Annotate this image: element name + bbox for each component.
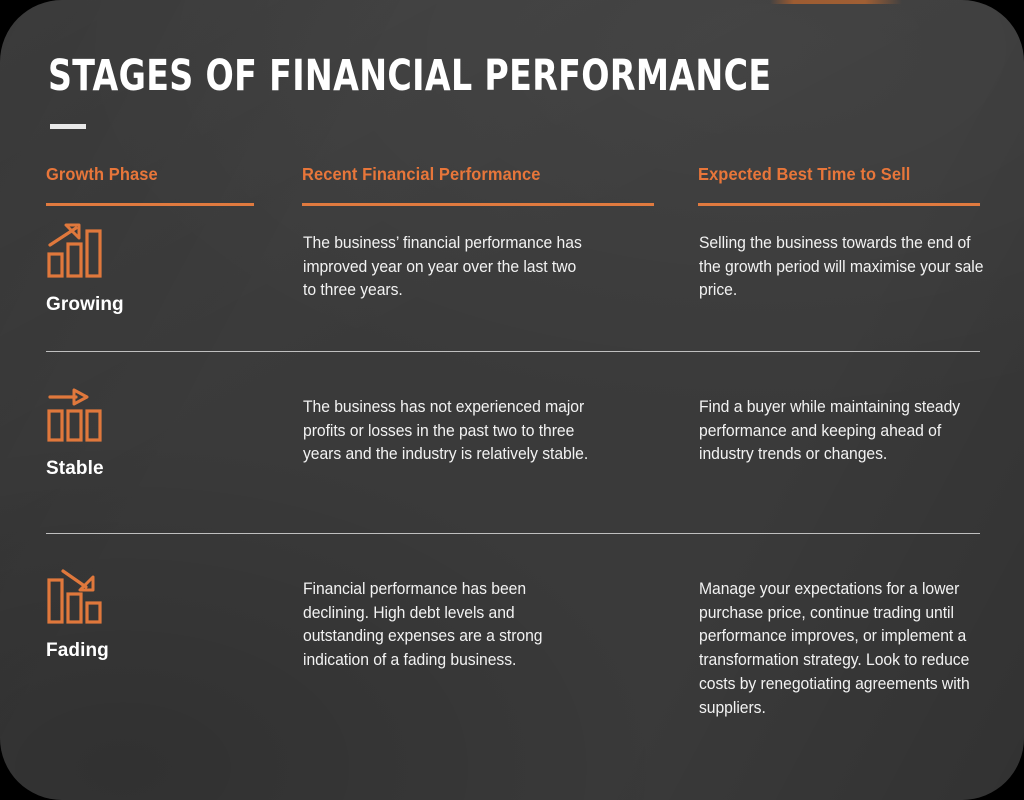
phase-label: Stable	[46, 458, 276, 480]
column-header-label: Expected Best Time to Sell	[698, 164, 963, 185]
bar-chart-flat-arrow-icon	[46, 386, 276, 444]
bar-chart-rising-arrow-icon	[46, 222, 276, 280]
infographic-card: STAGES OF FINANCIAL PERFORMANCE Growth P…	[0, 0, 1024, 800]
cell-recent-performance: The business has not experienced major p…	[303, 396, 593, 467]
phase-cell-stable: Stable	[46, 386, 276, 480]
bar-chart-falling-arrow-icon	[46, 568, 276, 626]
column-header-growth-phase: Growth Phase	[46, 164, 254, 206]
title-underline-rule	[50, 124, 86, 129]
page-title: STAGES OF FINANCIAL PERFORMANCE	[48, 52, 771, 100]
column-header-underline	[46, 203, 254, 206]
phase-label: Fading	[46, 640, 276, 662]
phase-label: Growing	[46, 294, 276, 316]
row-divider	[46, 533, 980, 534]
column-header-underline	[698, 203, 980, 206]
cell-recent-performance: Financial performance has been declining…	[303, 578, 593, 673]
cell-recent-performance: The business’ financial performance has …	[303, 232, 593, 303]
column-header-label: Recent Financial Performance	[302, 164, 633, 185]
column-header-time-to-sell: Expected Best Time to Sell	[698, 164, 980, 206]
row-divider	[46, 351, 980, 352]
phase-cell-fading: Fading	[46, 568, 276, 662]
column-header-recent-performance: Recent Financial Performance	[302, 164, 654, 206]
phase-cell-growing: Growing	[46, 222, 276, 316]
card-content: STAGES OF FINANCIAL PERFORMANCE Growth P…	[0, 0, 1024, 800]
cell-time-to-sell: Find a buyer while maintaining steady pe…	[699, 396, 989, 467]
column-header-label: Growth Phase	[46, 164, 242, 185]
cell-time-to-sell: Manage your expectations for a lower pur…	[699, 578, 989, 720]
column-header-underline	[302, 203, 654, 206]
cell-time-to-sell: Selling the business towards the end of …	[699, 232, 989, 303]
